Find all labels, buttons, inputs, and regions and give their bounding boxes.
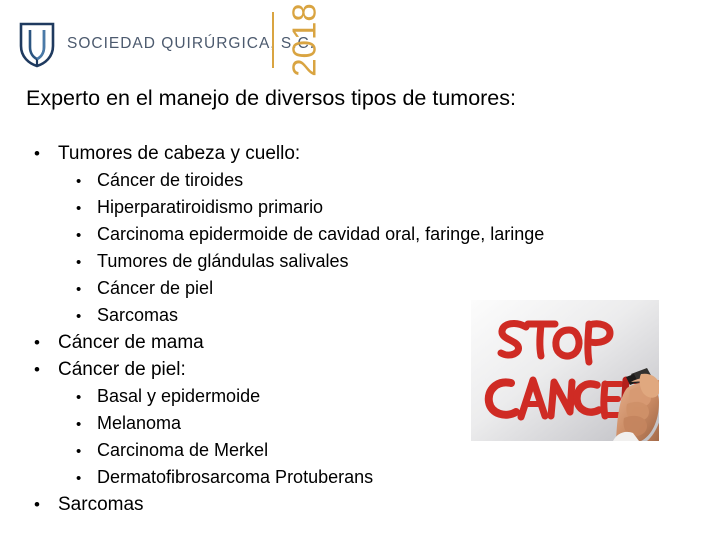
list-item: •Carcinoma epidermoide de cavidad oral, … xyxy=(26,224,696,251)
brand-year: 2018 xyxy=(272,8,336,72)
bullet-marker-icon: • xyxy=(76,255,97,270)
bullet-marker-icon: • xyxy=(76,444,97,459)
list-item: •Tumores de cabeza y cuello: xyxy=(26,143,696,170)
list-item-label: Sarcomas xyxy=(58,494,144,516)
stop-cancer-illustration xyxy=(471,300,659,441)
list-item-label: Carcinoma de Merkel xyxy=(97,440,268,461)
list-item-label: Carcinoma epidermoide de cavidad oral, f… xyxy=(97,224,544,245)
list-item: •Tumores de glándulas salivales xyxy=(26,251,696,278)
list-item-label: Cáncer de tiroides xyxy=(97,170,243,191)
bullet-marker-icon: • xyxy=(76,201,97,216)
bullet-marker-icon: • xyxy=(34,145,58,162)
list-item-label: Cáncer de piel xyxy=(97,278,213,299)
list-item-label: Tumores de cabeza y cuello: xyxy=(58,143,300,165)
page-title: Experto en el manejo de diversos tipos d… xyxy=(26,86,516,111)
bullet-marker-icon: • xyxy=(76,228,97,243)
bullet-marker-icon: • xyxy=(76,471,97,486)
bullet-marker-icon: • xyxy=(34,361,58,378)
brand-header: SOCIEDAD QUIRÚRGICA, S.C. xyxy=(18,14,315,74)
list-item-label: Cáncer de piel: xyxy=(58,359,186,381)
shield-logo-icon xyxy=(18,20,56,68)
list-item: •Carcinoma de Merkel xyxy=(26,440,696,467)
list-item: •Sarcomas xyxy=(26,494,696,521)
bullet-marker-icon: • xyxy=(34,334,58,351)
slide-canvas: SOCIEDAD QUIRÚRGICA, S.C. 2018 Experto e… xyxy=(0,0,720,540)
stop-cancer-photo xyxy=(471,300,659,441)
list-item-label: Hiperparatiroidismo primario xyxy=(97,197,323,218)
list-item-label: Sarcomas xyxy=(97,305,178,326)
list-item: •Cáncer de tiroides xyxy=(26,170,696,197)
list-item-label: Basal y epidermoide xyxy=(97,386,260,407)
bullet-marker-icon: • xyxy=(76,390,97,405)
list-item-label: Cáncer de mama xyxy=(58,332,204,354)
bullet-marker-icon: • xyxy=(76,282,97,297)
brand-year-label: 2018 xyxy=(288,3,321,76)
list-item-label: Dermatofibrosarcoma Protuberans xyxy=(97,467,373,488)
bullet-marker-icon: • xyxy=(76,417,97,432)
list-item-label: Melanoma xyxy=(97,413,181,434)
list-item-label: Tumores de glándulas salivales xyxy=(97,251,348,272)
bullet-marker-icon: • xyxy=(76,174,97,189)
list-item: •Hiperparatiroidismo primario xyxy=(26,197,696,224)
bullet-marker-icon: • xyxy=(34,496,58,513)
bullet-marker-icon: • xyxy=(76,309,97,324)
list-item: •Dermatofibrosarcoma Protuberans xyxy=(26,467,696,494)
